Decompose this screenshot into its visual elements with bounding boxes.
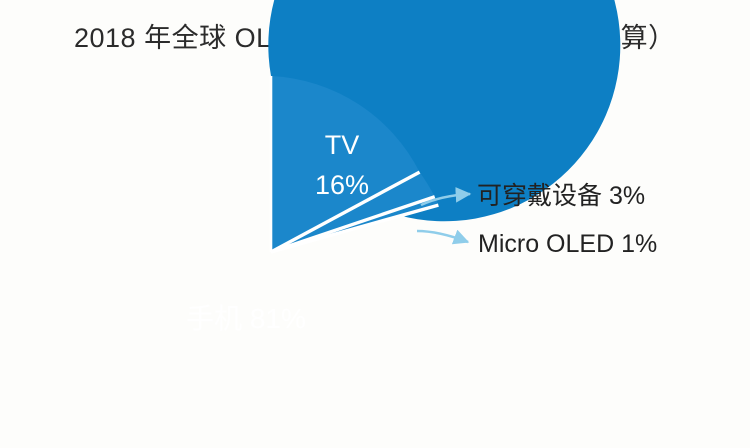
pie-callout-label-microoled: Micro OLED 1% [478, 229, 657, 259]
pie-label-phone: 手机 81% [160, 303, 332, 335]
pie-label-tv-name: TV [310, 130, 374, 160]
chart-canvas: 2018 年全球 OLED 市场应用（以营收比重计算） TV 16% 手机 81… [0, 0, 750, 448]
pie-label-tv-value: 16% [303, 170, 381, 200]
pie-callout-label-wearable: 可穿戴设备 3% [477, 181, 645, 211]
pie-chart-graphic [0, 0, 750, 448]
callout-arrow-microoled [417, 231, 468, 242]
